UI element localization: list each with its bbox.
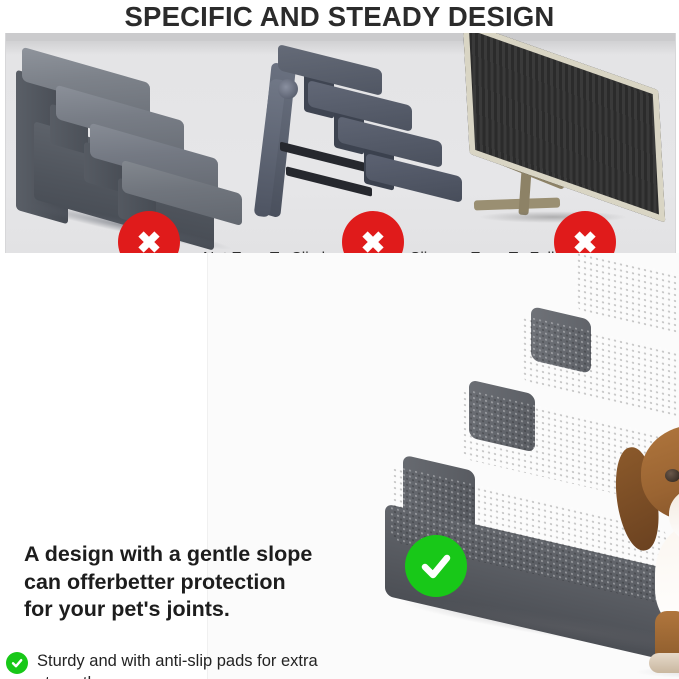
check-icon — [6, 652, 28, 674]
headline-line-3: for your pet's joints. — [24, 596, 354, 624]
comparison-item-wooden-ramp — [458, 51, 670, 243]
comparison-item-foam-stairs — [14, 51, 244, 241]
feature-panel: A design with a gentle slope can offerbe… — [0, 253, 679, 679]
list-item: Sturdy and with anti-slip pads for extra… — [6, 651, 346, 679]
ramp-carpet-deck — [463, 33, 666, 223]
panel-top-band — [6, 33, 675, 41]
feature-headline: A design with a gentle slope can offerbe… — [24, 541, 354, 624]
plastic-stairs-hinge — [278, 79, 298, 99]
page-title-bar: SPECIFIC AND STEADY DESIGN — [0, 0, 679, 33]
dog-eye-left — [665, 469, 679, 482]
ramp-support-leg-b — [474, 198, 560, 211]
comparison-item-plastic-stairs — [256, 45, 456, 241]
bullet-text: Sturdy and with anti-slip pads for extra… — [37, 651, 337, 679]
feature-bullet-list: Sturdy and with anti-slip pads for extra… — [6, 651, 346, 679]
dog-photo — [593, 425, 679, 670]
dog-front-left-paw — [649, 653, 679, 673]
headline-line-1: A design with a gentle slope — [24, 541, 354, 569]
comparison-panel: Not Easy To Climb Slippery Easy To Fall — [5, 33, 676, 253]
check-icon — [405, 535, 467, 597]
infographic-canvas: SPECIFIC AND STEADY DESIGN — [0, 0, 679, 679]
plastic-stairs-brace-2 — [286, 166, 372, 196]
headline-line-2: can offerbetter protection — [24, 569, 354, 597]
page-title: SPECIFIC AND STEADY DESIGN — [125, 3, 555, 31]
